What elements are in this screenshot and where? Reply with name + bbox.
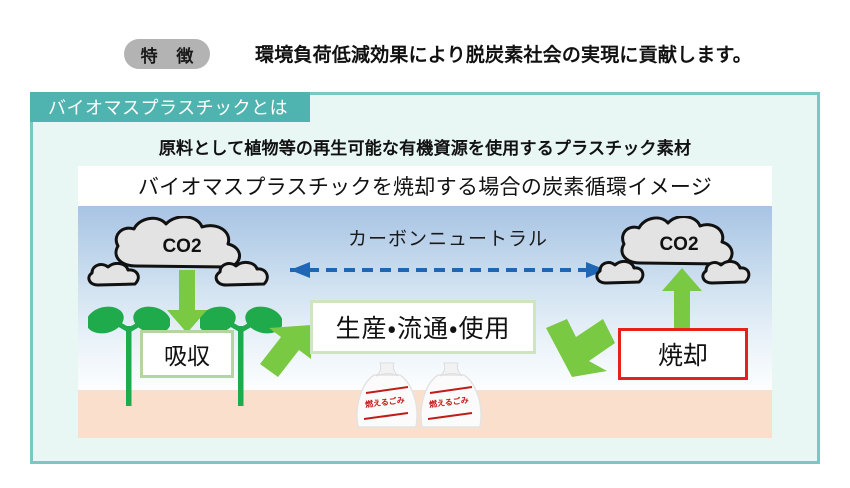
- header-row: 特 徴 環境負荷低減効果により脱炭素社会の実現に貢献します。: [0, 18, 850, 64]
- mini-cloud-icon: [86, 262, 142, 295]
- green-down-arrow-icon: [166, 270, 208, 339]
- section-tab-label: バイオマスプラスチックとは: [30, 92, 310, 122]
- incineration-box: 焼却: [618, 328, 748, 380]
- feature-badge: 特 徴: [124, 39, 210, 69]
- carbon-cycle-diagram: CO2 カーボンニュートラル CO2: [78, 206, 772, 438]
- mini-cloud-icon: [594, 260, 646, 293]
- production-distribution-use-box: 生産・流通・使用: [310, 300, 536, 354]
- green-up-arrow-icon: [661, 268, 703, 335]
- mini-cloud-icon: [213, 260, 271, 295]
- header-tagline: 環境負荷低減効果により脱炭素社会の実現に貢献します。: [255, 40, 752, 67]
- carbon-neutral-group: カーボンニュートラル: [268, 224, 628, 284]
- section-definition-text: 原料として植物等の再生可能な有機資源を使用するプラスチック素材: [30, 134, 820, 159]
- diagram-title: バイオマスプラスチックを焼却する場合の炭素循環イメージ: [138, 171, 712, 201]
- garbage-bags-group: 燃えるごみ 燃えるごみ: [340, 361, 506, 433]
- diagram-title-band: バイオマスプラスチックを焼却する場合の炭素循環イメージ: [78, 166, 772, 206]
- blue-dashed-double-arrow-icon: [268, 262, 628, 278]
- green-diagonal-down-arrow-icon: [546, 318, 616, 385]
- mini-cloud-icon: [700, 260, 752, 293]
- absorption-box: 吸収: [140, 330, 234, 378]
- carbon-neutral-label: カーボンニュートラル: [268, 224, 628, 251]
- green-diagonal-up-arrow-icon: [254, 324, 312, 387]
